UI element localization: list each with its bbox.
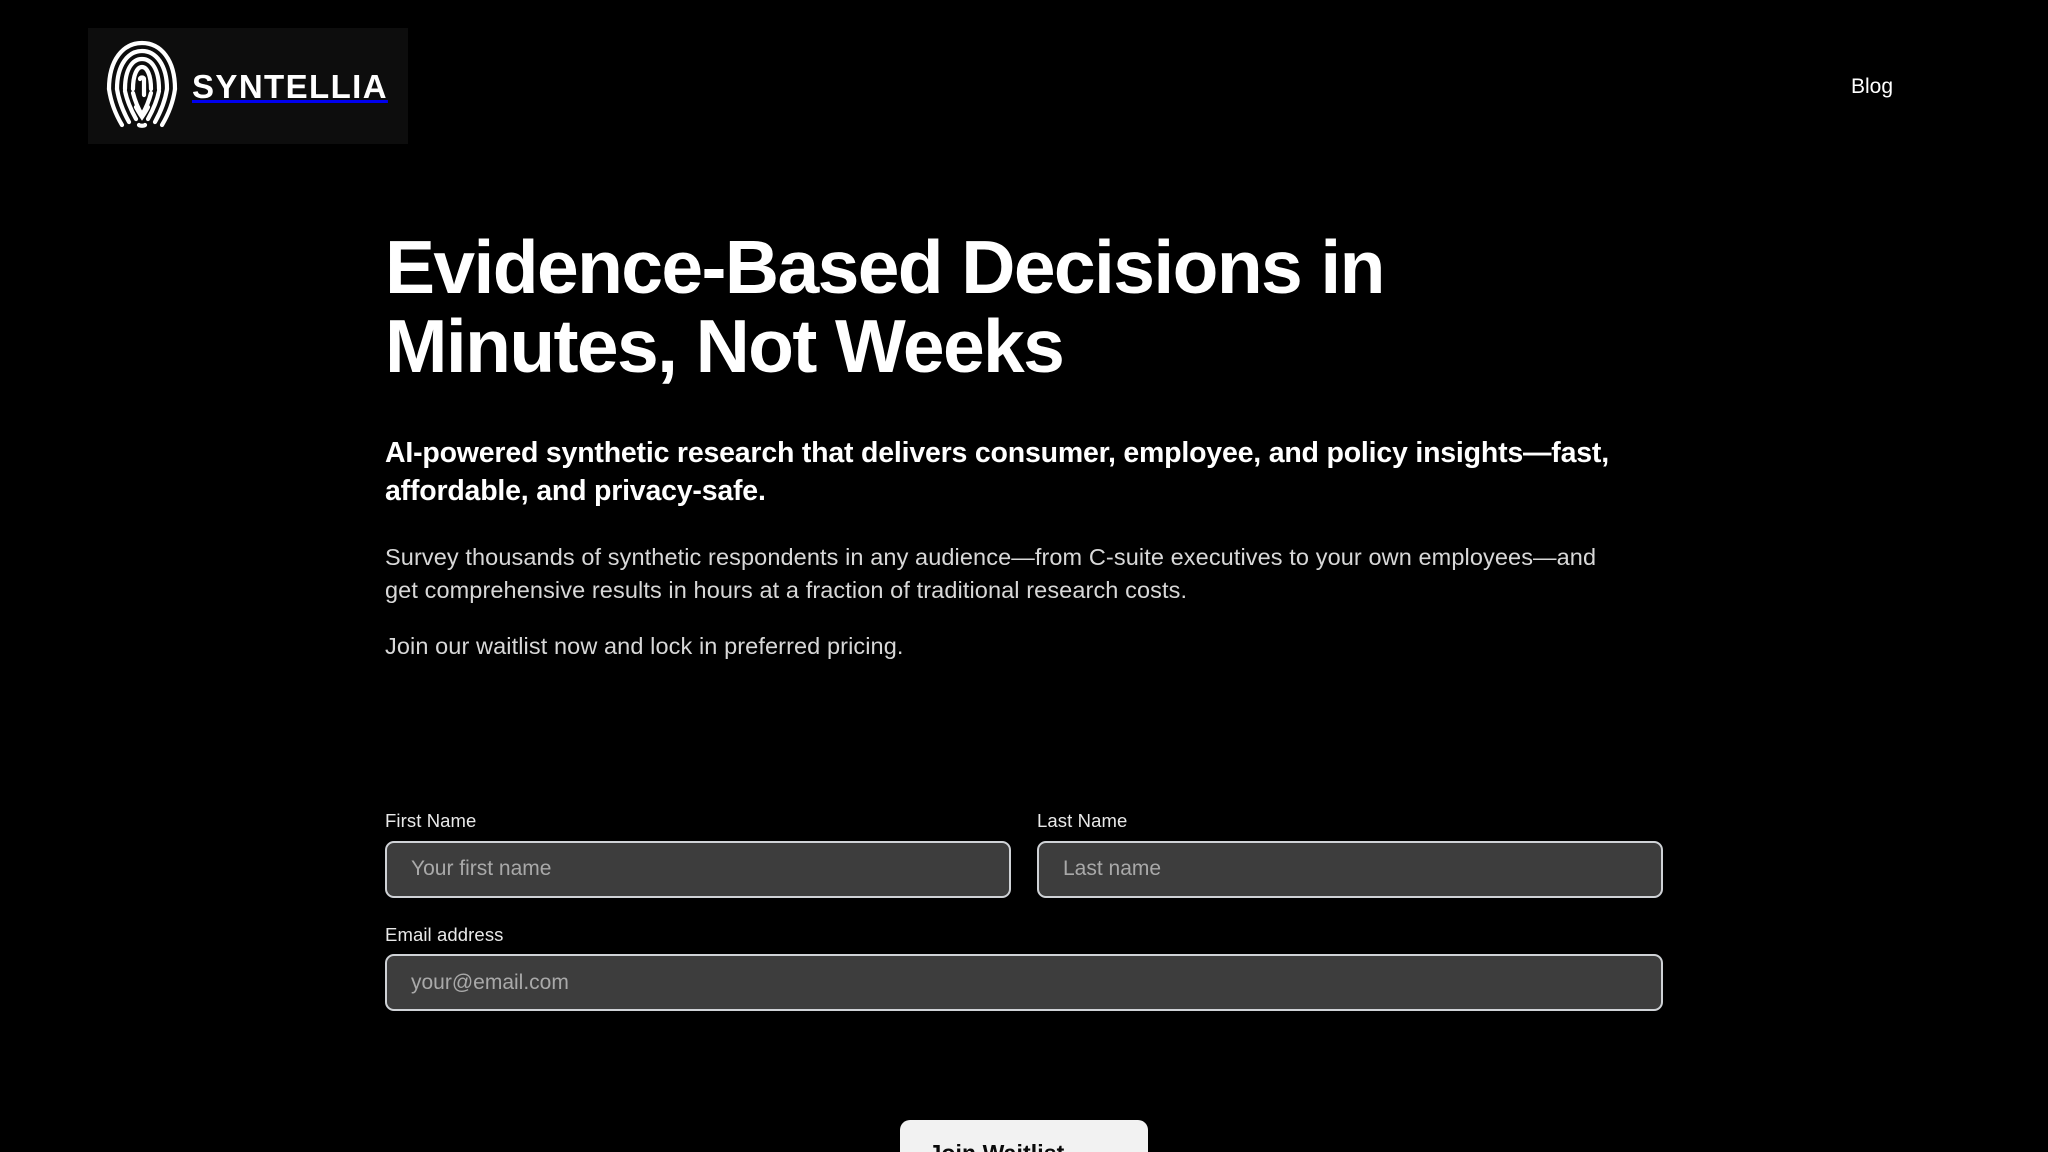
page-root: SYNTELLIA Blog Evidence-Based Decisions …: [0, 0, 2048, 1152]
last-name-input[interactable]: [1037, 841, 1663, 898]
brand-name: SYNTELLIA: [192, 70, 388, 103]
site-header: SYNTELLIA Blog: [0, 0, 2048, 176]
arrow-right-icon: →: [1098, 1143, 1119, 1152]
nav-item-blog[interactable]: Blog: [1851, 76, 1893, 97]
page-title: Evidence-Based Decisions in Minutes, Not…: [385, 228, 1525, 386]
join-waitlist-button[interactable]: Join Waitlist →: [900, 1120, 1148, 1152]
email-field-group: Email address: [385, 926, 1663, 1012]
first-name-field-group: First Name: [385, 812, 1011, 898]
waitlist-form: First Name Last Name Email address: [385, 812, 1663, 1011]
email-label: Email address: [385, 926, 1663, 945]
hero-body-paragraph: Survey thousands of synthetic respondent…: [385, 541, 1630, 608]
hero-subtitle: AI-powered synthetic research that deliv…: [385, 434, 1640, 512]
email-input[interactable]: [385, 954, 1663, 1011]
main-nav: Blog: [1851, 76, 1893, 97]
last-name-label: Last Name: [1037, 812, 1663, 831]
submit-row: Join Waitlist →: [0, 1120, 2048, 1152]
brand-logo-link[interactable]: SYNTELLIA: [88, 28, 408, 144]
hero-section: Evidence-Based Decisions in Minutes, Not…: [385, 228, 1675, 663]
fingerprint-icon: [106, 37, 178, 135]
first-name-label: First Name: [385, 812, 1011, 831]
first-name-input[interactable]: [385, 841, 1011, 898]
name-field-row: First Name Last Name: [385, 812, 1663, 898]
join-waitlist-label: Join Waitlist: [928, 1140, 1064, 1152]
hero-cta-line: Join our waitlist now and lock in prefer…: [385, 630, 1630, 663]
last-name-field-group: Last Name: [1037, 812, 1663, 898]
